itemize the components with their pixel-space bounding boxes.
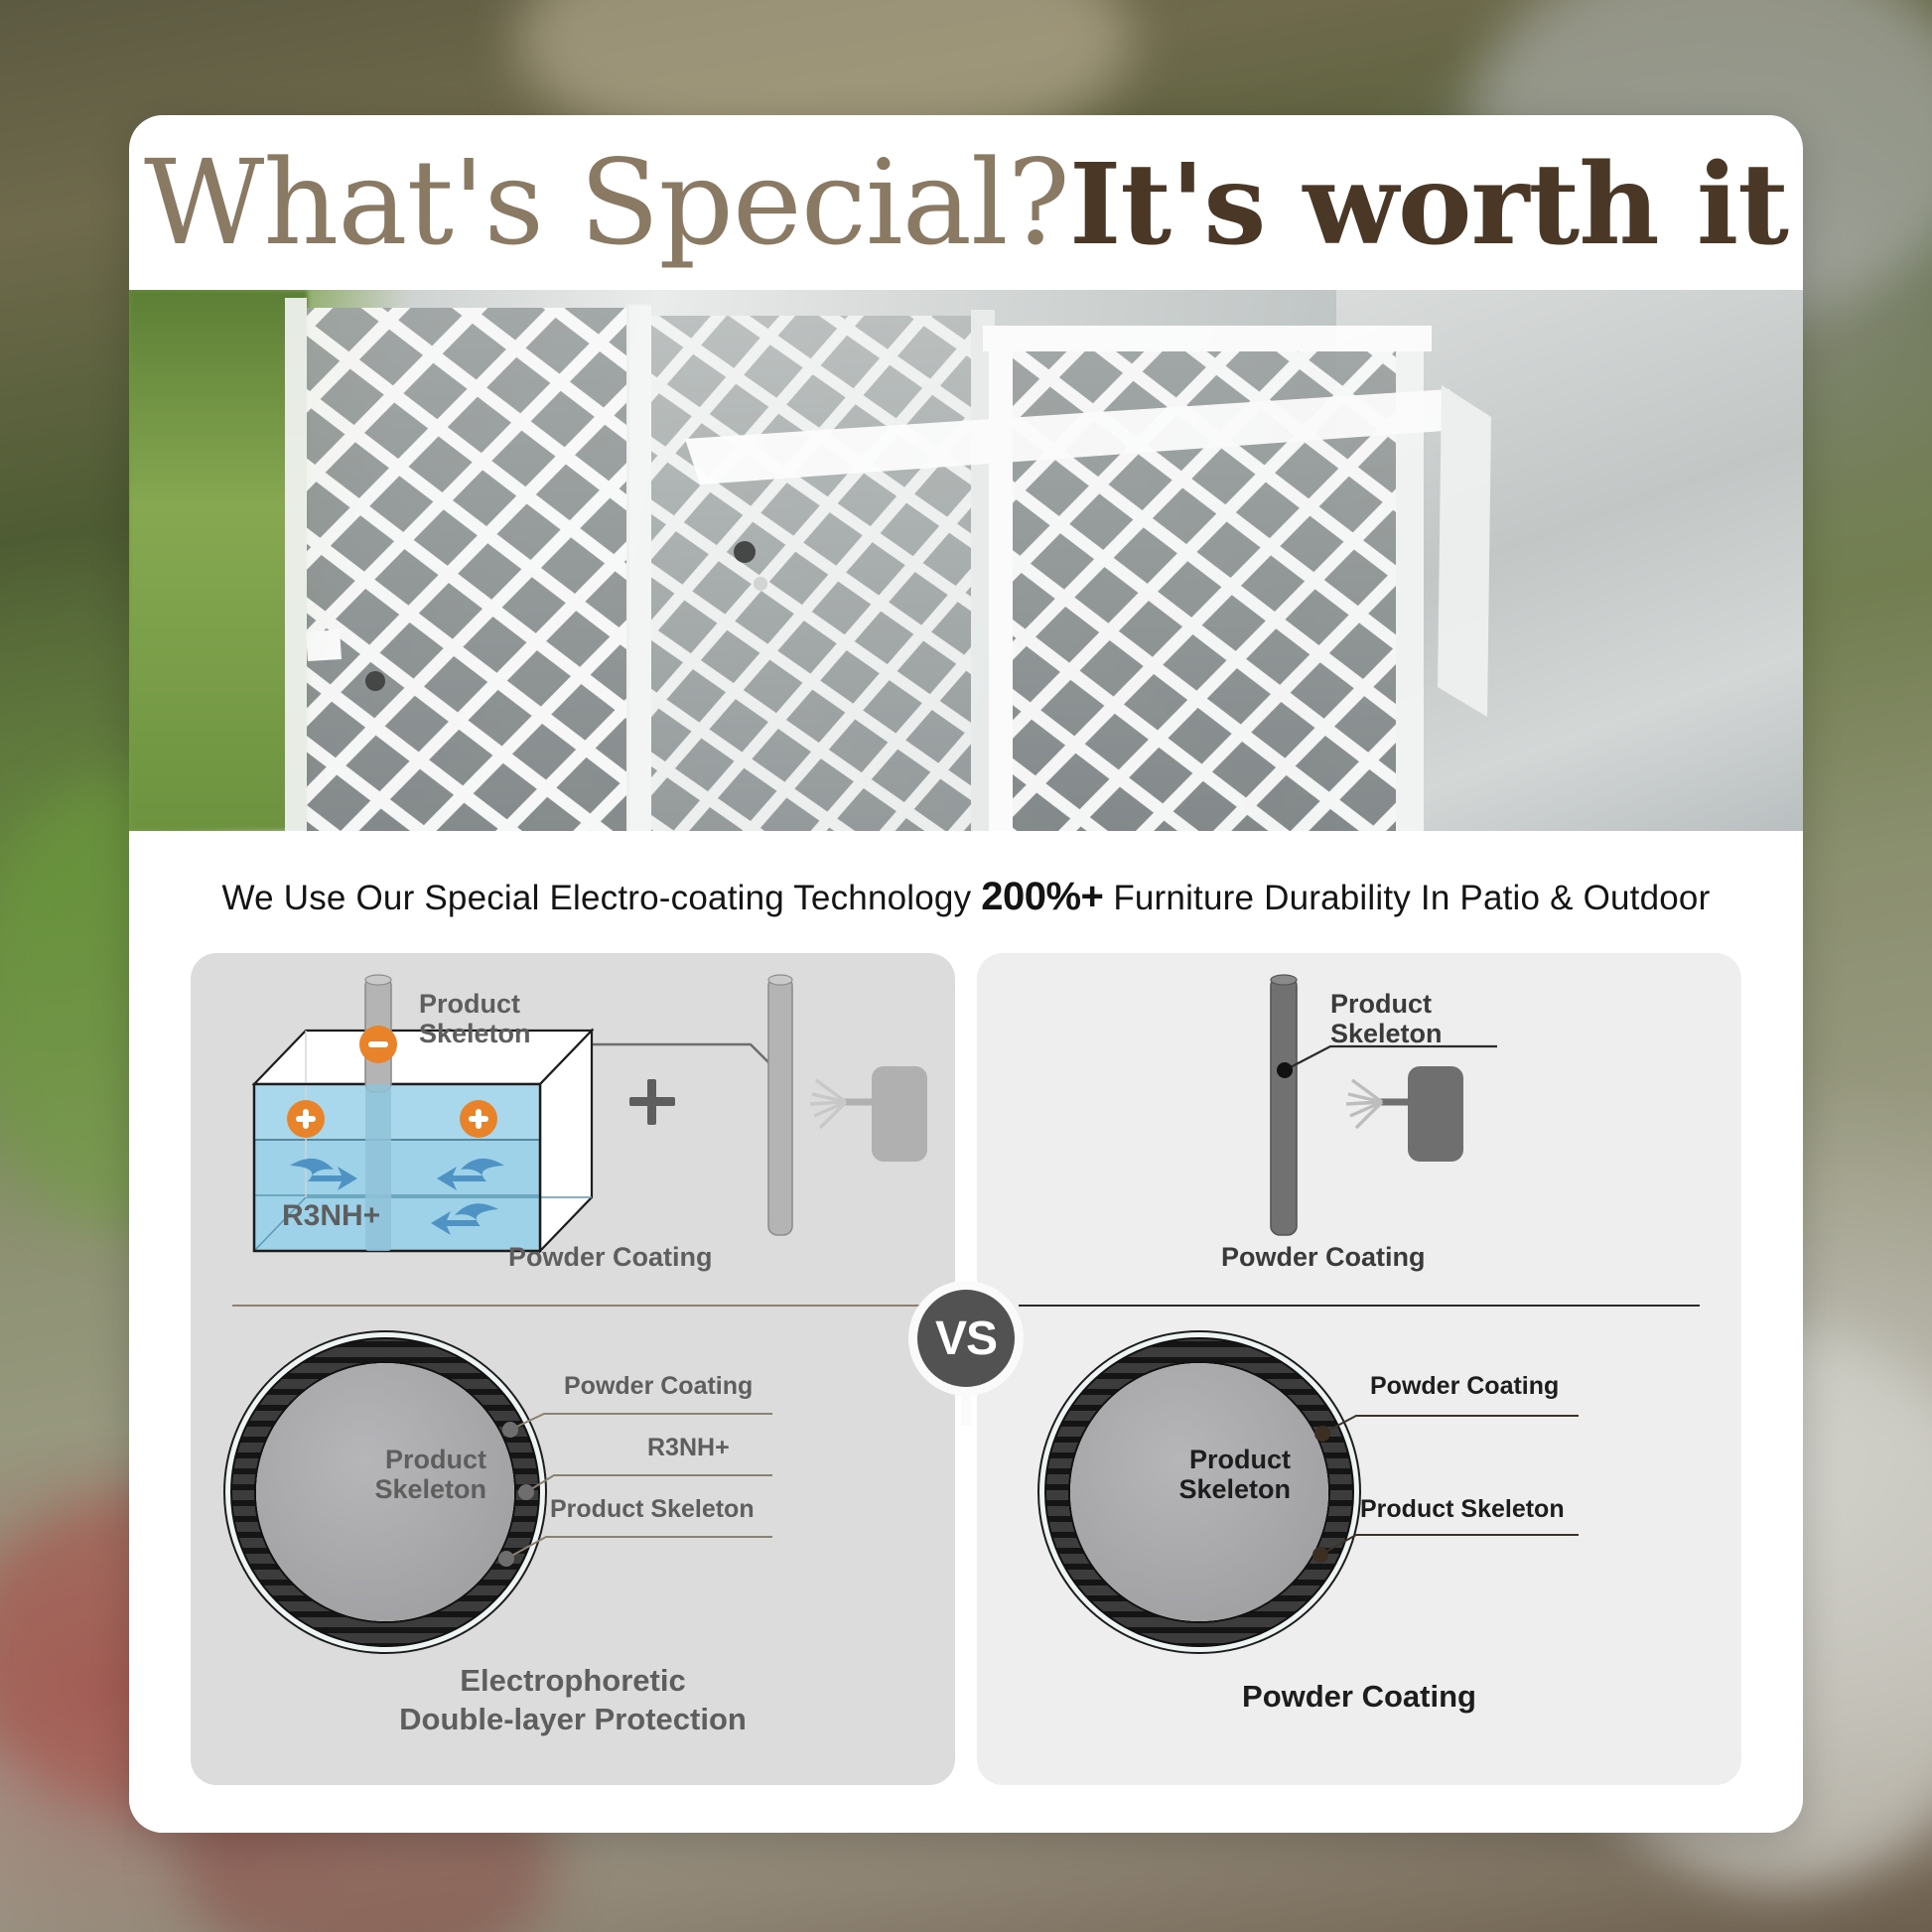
panel-electrophoretic: Product Skeleton R3NH+ Powder Coating (191, 953, 955, 1785)
right-circle-center-label: Product Skeleton (1172, 1445, 1291, 1504)
subtitle-before: We Use Our Special Electro-coating Techn… (222, 879, 982, 917)
vs-badge: VS (908, 1281, 1024, 1396)
right-callout-powder-coating: Powder Coating (1370, 1372, 1559, 1401)
title-bold-part: It's worth it (1069, 140, 1788, 270)
header: What's Special?It's worth it (129, 115, 1803, 290)
right-skeleton-label: Product Skeleton (1330, 989, 1443, 1048)
subtitle-after: Furniture Durability In Patio & Outdoor (1103, 879, 1710, 917)
right-powder-coating-label: Powder Coating (1221, 1242, 1426, 1272)
left-powder-coating-label: Powder Coating (508, 1242, 713, 1272)
left-panel-caption: Electrophoretic Double-layer Protection (191, 1662, 955, 1739)
vs-badge-label: VS (917, 1290, 1015, 1387)
left-callout-powder-coating: Powder Coating (564, 1372, 753, 1401)
hero-lattice-pattern (129, 290, 1803, 831)
content-card: What's Special?It's worth it (129, 115, 1803, 1833)
right-panel-caption: Powder Coating (977, 1678, 1741, 1717)
right-panel-divider (1019, 1305, 1700, 1307)
right-callout-product-skeleton: Product Skeleton (1360, 1495, 1565, 1524)
title-light-part: What's Special? (144, 134, 1069, 271)
page-title: What's Special?It's worth it (144, 144, 1788, 261)
left-panel-divider (232, 1305, 955, 1307)
left-callout-product-skeleton: Product Skeleton (550, 1495, 755, 1524)
left-skeleton-label: Product Skeleton (419, 989, 531, 1048)
comparison-section: Product Skeleton R3NH+ Powder Coating (129, 953, 1803, 1785)
vs-badge-stem (961, 1390, 971, 1426)
panel-powder-coating: Product Skeleton Powder Coating (977, 953, 1741, 1785)
left-electrolyte-label: R3NH+ (282, 1199, 380, 1233)
body: We Use Our Special Electro-coating Techn… (129, 831, 1803, 1833)
screenshot-root: What's Special?It's worth it (0, 0, 1932, 1932)
left-circle-center-label: Product Skeleton (367, 1445, 486, 1504)
left-callout-r3nh: R3NH+ (647, 1434, 730, 1462)
subtitle: We Use Our Special Electro-coating Techn… (129, 831, 1803, 919)
hero-photo (129, 290, 1803, 831)
subtitle-highlight: 200%+ (981, 875, 1103, 918)
